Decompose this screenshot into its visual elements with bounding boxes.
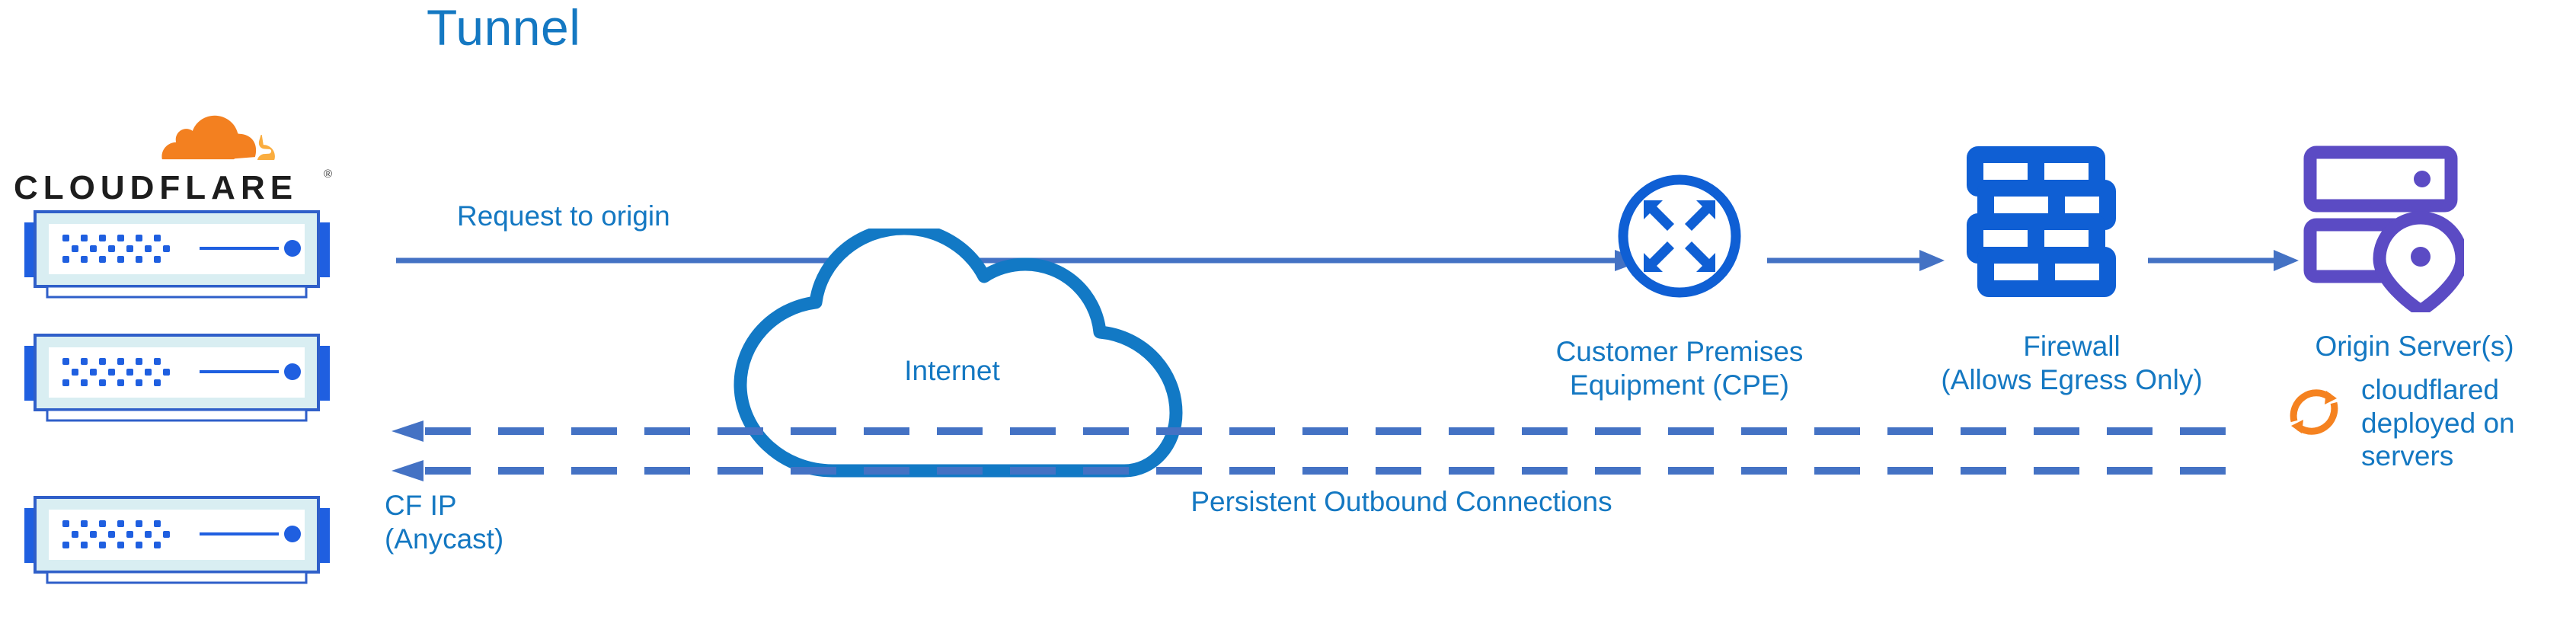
cf-ip-anycast-label: CF IP (Anycast) xyxy=(385,489,503,555)
cloudflared-icon-wrapper xyxy=(2279,377,2349,447)
origin-server-icon-wrapper xyxy=(2300,145,2464,312)
cloudflare-logo: CLOUDFLARE ® xyxy=(14,107,334,206)
cloudflare-edge-server-1 xyxy=(11,206,346,301)
cloudflare-edge-server-3 xyxy=(11,491,346,587)
firewall-to-origin-arrow xyxy=(2148,245,2300,276)
cloudflare-cloud-mark xyxy=(14,107,334,179)
server-rack-icon xyxy=(11,329,346,424)
firewall-icon-wrapper xyxy=(1965,145,2117,305)
page-title: Tunnel xyxy=(427,0,580,56)
diagram-canvas: Tunnel CLOUDFLARE ® xyxy=(0,0,2576,617)
internet-cloud: Internet xyxy=(708,229,1196,491)
persistent-outbound-line-upper xyxy=(388,417,2247,445)
brick-wall-icon xyxy=(1965,145,2117,305)
request-to-origin-label: Request to origin xyxy=(457,200,670,233)
server-rack-icon xyxy=(11,491,346,587)
cloudflare-wordmark: CLOUDFLARE xyxy=(14,169,298,207)
internet-label: Internet xyxy=(708,354,1196,388)
origin-server-label: Origin Server(s) xyxy=(2255,330,2574,363)
registered-trademark-symbol: ® xyxy=(324,168,332,181)
sync-arrows-icon xyxy=(2279,377,2349,447)
cpe-to-firewall-arrow xyxy=(1767,245,1946,276)
server-rack-icon xyxy=(11,206,346,301)
persistent-outbound-line-lower xyxy=(388,457,2247,484)
firewall-label: Firewall (Allows Egress Only) xyxy=(1858,330,2285,396)
router-converge-icon xyxy=(1615,171,1744,301)
server-location-icon xyxy=(2300,145,2464,312)
cpe-label: Customer Premises Equipment (CPE) xyxy=(1493,335,1866,401)
cpe-icon-wrapper xyxy=(1615,171,1744,301)
cloudflare-edge-server-2 xyxy=(11,329,346,424)
cloudflared-label: cloudflared deployed on servers xyxy=(2361,373,2576,473)
persistent-outbound-connections-label: Persistent Outbound Connections xyxy=(1112,485,1691,519)
